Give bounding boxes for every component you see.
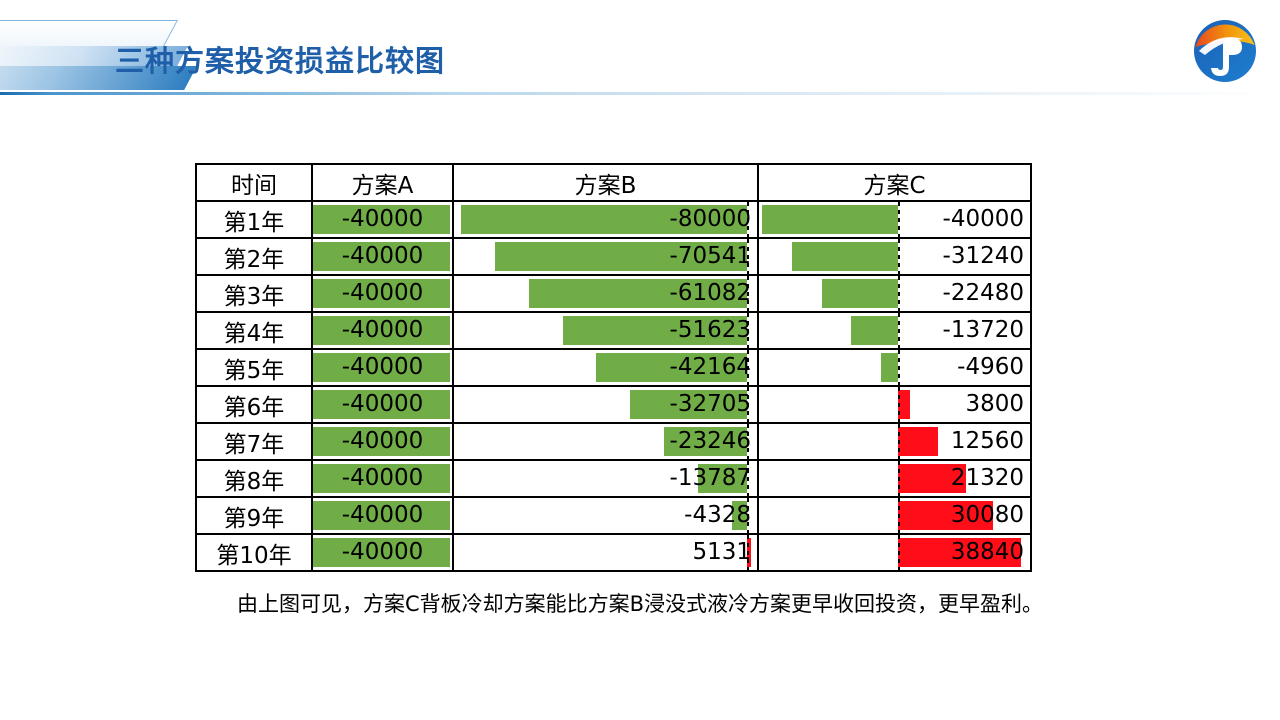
data-bar-cell-plan-c: -4960 bbox=[758, 349, 1031, 386]
cell-value: -80000 bbox=[454, 202, 757, 237]
cell-value: -40000 bbox=[313, 239, 452, 274]
row-label-time: 第9年 bbox=[196, 497, 312, 534]
data-bar-cell-plan-a: -40000 bbox=[312, 201, 453, 238]
cell-value: -22480 bbox=[759, 276, 1030, 311]
data-bar-cell-plan-a: -40000 bbox=[312, 275, 453, 312]
data-bar-cell-plan-b: -80000 bbox=[453, 201, 758, 238]
data-bar-cell-plan-c: 3800 bbox=[758, 386, 1031, 423]
cell-value: -40000 bbox=[313, 202, 452, 237]
row-label-time: 第3年 bbox=[196, 275, 312, 312]
table-body: 第1年-40000-80000-40000第2年-40000-70541-312… bbox=[196, 201, 1031, 571]
data-bar-cell-plan-a: -40000 bbox=[312, 423, 453, 460]
data-bar-cell-plan-b: -61082 bbox=[453, 275, 758, 312]
row-label-time: 第8年 bbox=[196, 460, 312, 497]
table-row: 第4年-40000-51623-13720 bbox=[196, 312, 1031, 349]
footer-note: 由上图可见，方案C背板冷却方案能比方案B浸没式液冷方案更早收回投资，更早盈利。 bbox=[0, 588, 1280, 618]
column-header-plan-c: 方案C bbox=[758, 164, 1031, 201]
data-bar-cell-plan-c: 12560 bbox=[758, 423, 1031, 460]
page-title: 三种方案投资损益比较图 bbox=[115, 38, 445, 80]
data-bar-cell-plan-b: -51623 bbox=[453, 312, 758, 349]
cell-value: 21320 bbox=[759, 461, 1030, 496]
row-label-time: 第5年 bbox=[196, 349, 312, 386]
cell-value: -40000 bbox=[313, 424, 452, 459]
row-label-time: 第10年 bbox=[196, 534, 312, 571]
data-bar-cell-plan-c: 38840 bbox=[758, 534, 1031, 571]
data-bar-cell-plan-a: -40000 bbox=[312, 349, 453, 386]
table-row: 第6年-40000-327053800 bbox=[196, 386, 1031, 423]
header-divider bbox=[0, 92, 1280, 95]
data-bar-cell-plan-c: -22480 bbox=[758, 275, 1031, 312]
table-header-row: 时间 方案A 方案B 方案C bbox=[196, 164, 1031, 201]
cell-value: -51623 bbox=[454, 313, 757, 348]
cell-value: 5131 bbox=[454, 535, 757, 570]
data-bar-cell-plan-b: -13787 bbox=[453, 460, 758, 497]
row-label-time: 第1年 bbox=[196, 201, 312, 238]
cell-value: -40000 bbox=[313, 535, 452, 570]
row-label-time: 第7年 bbox=[196, 423, 312, 460]
data-bar-cell-plan-b: -32705 bbox=[453, 386, 758, 423]
column-header-time: 时间 bbox=[196, 164, 312, 201]
table-row: 第2年-40000-70541-31240 bbox=[196, 238, 1031, 275]
table-row: 第3年-40000-61082-22480 bbox=[196, 275, 1031, 312]
slide-header: 三种方案投资损益比较图 bbox=[0, 0, 1280, 100]
table-row: 第10年-40000513138840 bbox=[196, 534, 1031, 571]
data-bar-cell-plan-a: -40000 bbox=[312, 312, 453, 349]
row-label-time: 第4年 bbox=[196, 312, 312, 349]
data-bar-cell-plan-c: 30080 bbox=[758, 497, 1031, 534]
cell-value: -31240 bbox=[759, 239, 1030, 274]
data-bar-cell-plan-a: -40000 bbox=[312, 460, 453, 497]
table-row: 第1年-40000-80000-40000 bbox=[196, 201, 1031, 238]
cell-value: -4328 bbox=[454, 498, 757, 533]
cell-value: 38840 bbox=[759, 535, 1030, 570]
data-bar-cell-plan-a: -40000 bbox=[312, 238, 453, 275]
cell-value: 30080 bbox=[759, 498, 1030, 533]
table-row: 第8年-40000-1378721320 bbox=[196, 460, 1031, 497]
data-bar-cell-plan-a: -40000 bbox=[312, 534, 453, 571]
data-bar-cell-plan-a: -40000 bbox=[312, 386, 453, 423]
cell-value: 12560 bbox=[759, 424, 1030, 459]
cell-value: -32705 bbox=[454, 387, 757, 422]
table-row: 第9年-40000-432830080 bbox=[196, 497, 1031, 534]
data-bar-cell-plan-b: -4328 bbox=[453, 497, 758, 534]
data-bar-cell-plan-c: 21320 bbox=[758, 460, 1031, 497]
cell-value: -4960 bbox=[759, 350, 1030, 385]
table-row: 第5年-40000-42164-4960 bbox=[196, 349, 1031, 386]
row-label-time: 第2年 bbox=[196, 238, 312, 275]
data-bar-cell-plan-b: -42164 bbox=[453, 349, 758, 386]
cell-value: -23246 bbox=[454, 424, 757, 459]
investment-comparison-table: 时间 方案A 方案B 方案C 第1年-40000-80000-40000第2年-… bbox=[195, 163, 1032, 572]
cell-value: -40000 bbox=[313, 498, 452, 533]
cell-value: -13720 bbox=[759, 313, 1030, 348]
row-label-time: 第6年 bbox=[196, 386, 312, 423]
cell-value: -40000 bbox=[759, 202, 1030, 237]
cell-value: -40000 bbox=[313, 350, 452, 385]
data-bar-cell-plan-c: -31240 bbox=[758, 238, 1031, 275]
column-header-plan-b: 方案B bbox=[453, 164, 758, 201]
company-logo-icon bbox=[1192, 18, 1258, 84]
data-bar-cell-plan-b: -23246 bbox=[453, 423, 758, 460]
table-row: 第7年-40000-2324612560 bbox=[196, 423, 1031, 460]
data-bar-cell-plan-b: 5131 bbox=[453, 534, 758, 571]
cell-value: -42164 bbox=[454, 350, 757, 385]
cell-value: -40000 bbox=[313, 313, 452, 348]
data-bar-cell-plan-c: -13720 bbox=[758, 312, 1031, 349]
cell-value: -40000 bbox=[313, 387, 452, 422]
column-header-plan-a: 方案A bbox=[312, 164, 453, 201]
cell-value: -61082 bbox=[454, 276, 757, 311]
data-bar-cell-plan-c: -40000 bbox=[758, 201, 1031, 238]
data-bar-cell-plan-a: -40000 bbox=[312, 497, 453, 534]
cell-value: -13787 bbox=[454, 461, 757, 496]
cell-value: -70541 bbox=[454, 239, 757, 274]
cell-value: 3800 bbox=[759, 387, 1030, 422]
cell-value: -40000 bbox=[313, 276, 452, 311]
cell-value: -40000 bbox=[313, 461, 452, 496]
data-bar-cell-plan-b: -70541 bbox=[453, 238, 758, 275]
